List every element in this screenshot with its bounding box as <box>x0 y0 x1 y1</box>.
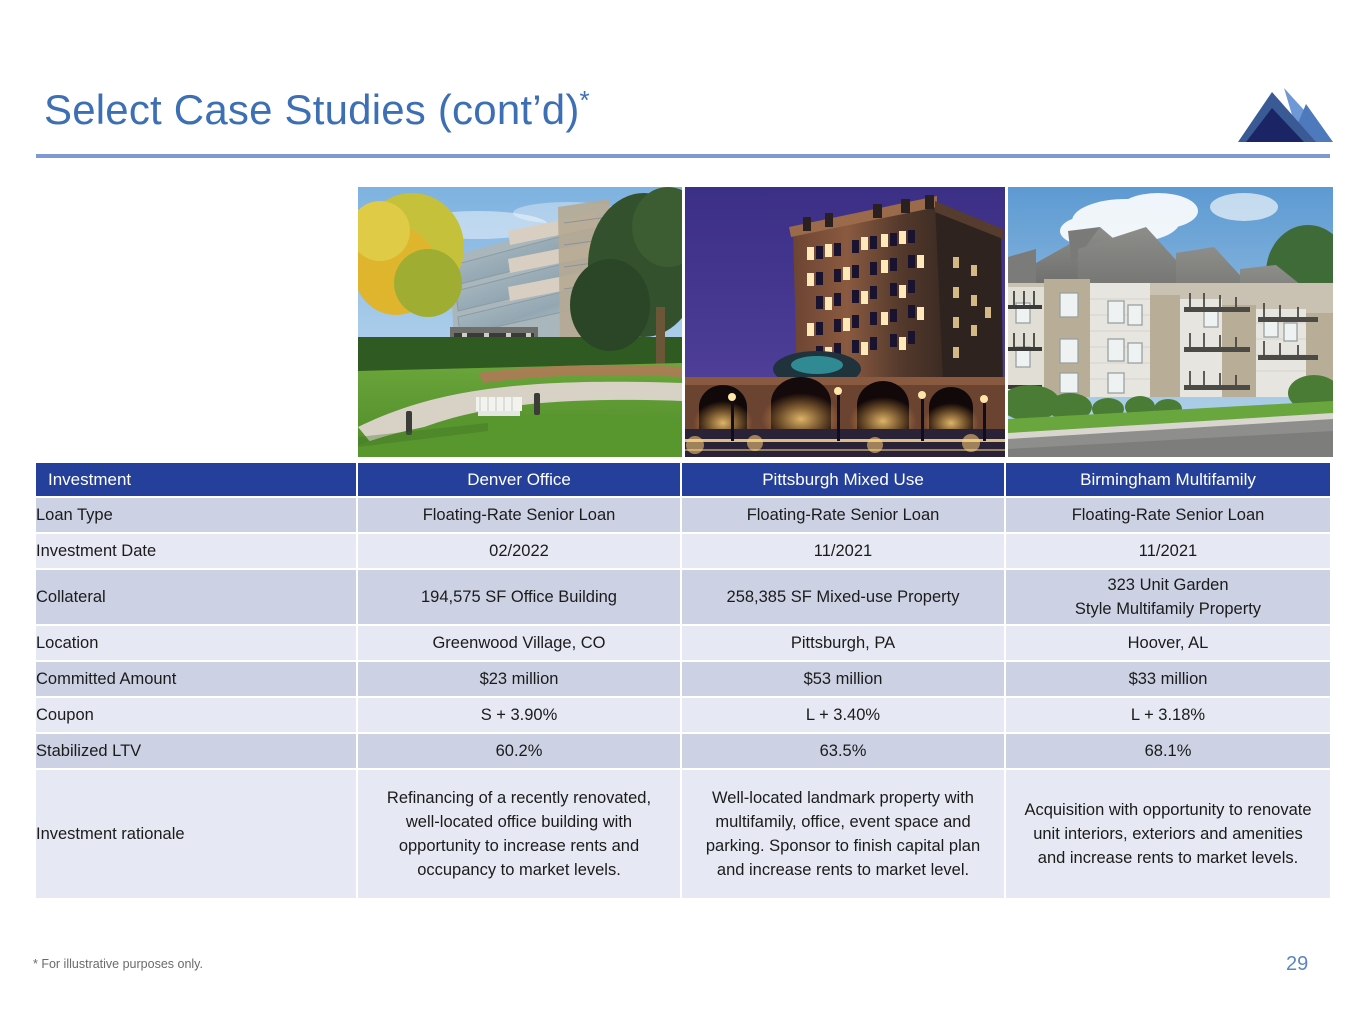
cell-coupon-birmingham: L + 3.18% <box>1006 698 1330 734</box>
table-row: Investment Date 02/2022 11/2021 11/2021 <box>36 534 1330 570</box>
row-label-loan-type: Loan Type <box>36 498 358 534</box>
page-number: 29 <box>1286 953 1308 976</box>
cell-investment-date-birmingham: 11/2021 <box>1006 534 1330 570</box>
page-title: Select Case Studies (cont’d)* <box>44 82 590 138</box>
page-title-asterisk: * <box>580 85 590 115</box>
cell-loan-type-pittsburgh: Floating-Rate Senior Loan <box>682 498 1006 534</box>
cell-collateral-denver: 194,575 SF Office Building <box>358 570 682 626</box>
cell-location-denver: Greenwood Village, CO <box>358 626 682 662</box>
row-label-investment-rationale: Investment rationale <box>36 770 358 898</box>
pittsburgh-mixed-use-photo <box>685 187 1005 457</box>
cell-loan-type-denver: Floating-Rate Senior Loan <box>358 498 682 534</box>
case-studies-table: Investment Denver Office Pittsburgh Mixe… <box>36 463 1330 898</box>
row-label-stabilized-ltv: Stabilized LTV <box>36 734 358 770</box>
cell-committed-amount-pittsburgh: $53 million <box>682 662 1006 698</box>
row-label-location: Location <box>36 626 358 662</box>
table-header-birmingham: Birmingham Multifamily <box>1006 463 1330 498</box>
table-row: Coupon S + 3.90% L + 3.40% L + 3.18% <box>36 698 1330 734</box>
cell-committed-amount-denver: $23 million <box>358 662 682 698</box>
cell-loan-type-birmingham: Floating-Rate Senior Loan <box>1006 498 1330 534</box>
denver-office-photo <box>358 187 682 457</box>
cell-investment-date-pittsburgh: 11/2021 <box>682 534 1006 570</box>
cell-rationale-birmingham: Acquisition with opportunity to renovate… <box>1006 770 1330 898</box>
mountain-peaks-logo <box>1238 86 1333 144</box>
row-label-committed-amount: Committed Amount <box>36 662 358 698</box>
table-row: Collateral 194,575 SF Office Building 25… <box>36 570 1330 626</box>
title-block: Select Case Studies (cont’d)* <box>36 82 1330 160</box>
photo-strip <box>358 187 1333 457</box>
cell-investment-date-denver: 02/2022 <box>358 534 682 570</box>
page-title-text: Select Case Studies (cont’d) <box>44 86 580 133</box>
cell-rationale-pittsburgh: Well-located landmark property with mult… <box>682 770 1006 898</box>
table-row: Investment rationale Refinancing of a re… <box>36 770 1330 898</box>
table-header-pittsburgh: Pittsburgh Mixed Use <box>682 463 1006 498</box>
title-divider <box>36 154 1330 158</box>
table-row: Stabilized LTV 60.2% 63.5% 68.1% <box>36 734 1330 770</box>
cell-stabilized-ltv-pittsburgh: 63.5% <box>682 734 1006 770</box>
cell-location-birmingham: Hoover, AL <box>1006 626 1330 662</box>
row-label-investment-date: Investment Date <box>36 534 358 570</box>
cell-collateral-birmingham: 323 Unit GardenStyle Multifamily Propert… <box>1006 570 1330 626</box>
cell-collateral-pittsburgh: 258,385 SF Mixed-use Property <box>682 570 1006 626</box>
table-header-label: Investment <box>36 463 358 498</box>
cell-coupon-pittsburgh: L + 3.40% <box>682 698 1006 734</box>
footnote: * For illustrative purposes only. <box>33 957 203 971</box>
slide-canvas: Select Case Studies (cont’d)* <box>0 0 1365 1024</box>
cell-coupon-denver: S + 3.90% <box>358 698 682 734</box>
cell-committed-amount-birmingham: $33 million <box>1006 662 1330 698</box>
cell-stabilized-ltv-birmingham: 68.1% <box>1006 734 1330 770</box>
table-row: Location Greenwood Village, CO Pittsburg… <box>36 626 1330 662</box>
birmingham-multifamily-photo <box>1008 187 1333 457</box>
table-row: Loan Type Floating-Rate Senior Loan Floa… <box>36 498 1330 534</box>
table-row: Committed Amount $23 million $53 million… <box>36 662 1330 698</box>
cell-location-pittsburgh: Pittsburgh, PA <box>682 626 1006 662</box>
cell-stabilized-ltv-denver: 60.2% <box>358 734 682 770</box>
table-header-denver: Denver Office <box>358 463 682 498</box>
row-label-collateral: Collateral <box>36 570 358 626</box>
cell-rationale-denver: Refinancing of a recently renovated, wel… <box>358 770 682 898</box>
table-header-row: Investment Denver Office Pittsburgh Mixe… <box>36 463 1330 498</box>
row-label-coupon: Coupon <box>36 698 358 734</box>
